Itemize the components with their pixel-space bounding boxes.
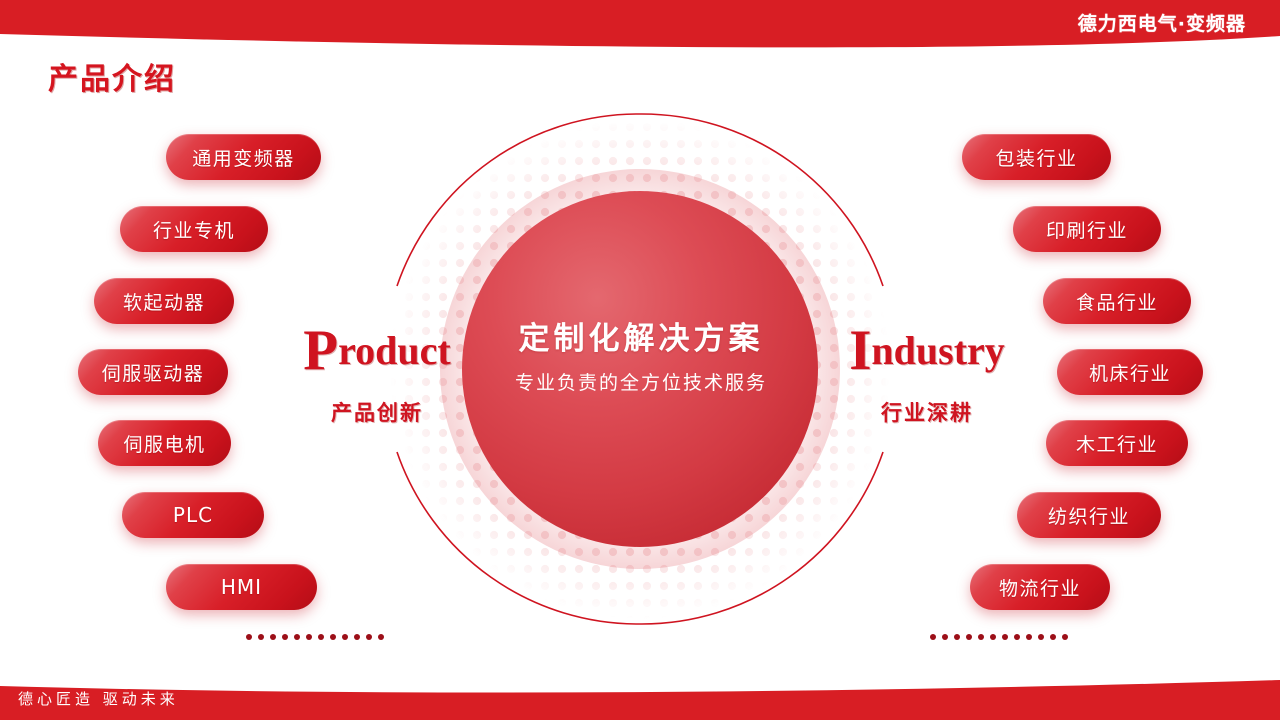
decor-dot [966, 634, 972, 640]
product-heading-cn: 产品创新 [272, 397, 482, 427]
decor-dot [990, 634, 996, 640]
pill-label: 行业专机 [153, 216, 235, 243]
industry-pill-2[interactable]: 印刷行业 [1013, 206, 1161, 252]
product-pill-7[interactable]: HMI [166, 564, 317, 610]
decor-dot [306, 634, 312, 640]
footer-band [0, 676, 1280, 720]
industry-heading: Industry 行业深耕 [822, 322, 1032, 427]
industry-heading-rest: ndustry [871, 328, 1004, 373]
decor-dot [258, 634, 264, 640]
decor-dot [318, 634, 324, 640]
dot-row-right [930, 634, 1068, 640]
product-pill-2[interactable]: 行业专机 [120, 206, 268, 252]
pill-label: 木工行业 [1076, 430, 1158, 457]
pill-label: 机床行业 [1089, 359, 1171, 386]
industry-heading-en: Industry [822, 322, 1032, 379]
decor-dot [282, 634, 288, 640]
decor-dot [294, 634, 300, 640]
decor-dot [342, 634, 348, 640]
decor-dot [942, 634, 948, 640]
decor-dot [954, 634, 960, 640]
decor-dot [1026, 634, 1032, 640]
pill-label: 软起动器 [123, 288, 205, 315]
industry-pill-3[interactable]: 食品行业 [1043, 278, 1191, 324]
product-heading-rest: roduct [338, 328, 451, 373]
decor-dot [930, 634, 936, 640]
product-heading-cap: P [303, 319, 338, 382]
decor-dot [1002, 634, 1008, 640]
pill-label: 包装行业 [995, 144, 1077, 171]
product-pill-6[interactable]: PLC [122, 492, 264, 538]
slide-canvas: 德力西电气·变频器 产品介绍 [0, 0, 1280, 720]
product-heading: Product 产品创新 [272, 322, 482, 427]
pill-label: 纺织行业 [1048, 502, 1130, 529]
decor-dot [378, 634, 384, 640]
pill-label: 物流行业 [999, 574, 1081, 601]
pill-label: 伺服电机 [123, 430, 205, 457]
product-pill-5[interactable]: 伺服电机 [98, 420, 231, 466]
footer-slogan: 德心匠造 驱动未来 [18, 688, 179, 709]
industry-pill-1[interactable]: 包装行业 [962, 134, 1111, 180]
pill-label: HMI [221, 575, 262, 599]
page-title: 产品介绍 [48, 54, 176, 98]
product-heading-en: Product [272, 322, 482, 379]
industry-pill-5[interactable]: 木工行业 [1046, 420, 1188, 466]
pill-label: 伺服驱动器 [102, 359, 205, 386]
decor-dot [330, 634, 336, 640]
product-pill-1[interactable]: 通用变频器 [166, 134, 321, 180]
pill-label: PLC [173, 503, 213, 527]
industry-heading-cap: I [849, 319, 871, 382]
decor-dot [270, 634, 276, 640]
pill-label: 印刷行业 [1046, 216, 1128, 243]
industry-pill-4[interactable]: 机床行业 [1057, 349, 1203, 395]
product-pill-3[interactable]: 软起动器 [94, 278, 234, 324]
center-sphere [462, 191, 818, 547]
dot-row-left [246, 634, 384, 640]
decor-dot [354, 634, 360, 640]
decor-dot [1062, 634, 1068, 640]
decor-dot [1050, 634, 1056, 640]
brand-logo-text: 德力西电气·变频器 [1078, 9, 1246, 36]
product-pill-4[interactable]: 伺服驱动器 [78, 349, 228, 395]
decor-dot [1014, 634, 1020, 640]
pill-label: 通用变频器 [192, 144, 295, 171]
decor-dot [1038, 634, 1044, 640]
decor-dot [366, 634, 372, 640]
decor-dot [978, 634, 984, 640]
pill-label: 食品行业 [1076, 288, 1158, 315]
decor-dot [246, 634, 252, 640]
industry-pill-6[interactable]: 纺织行业 [1017, 492, 1161, 538]
industry-pill-7[interactable]: 物流行业 [970, 564, 1110, 610]
industry-heading-cn: 行业深耕 [822, 397, 1032, 427]
